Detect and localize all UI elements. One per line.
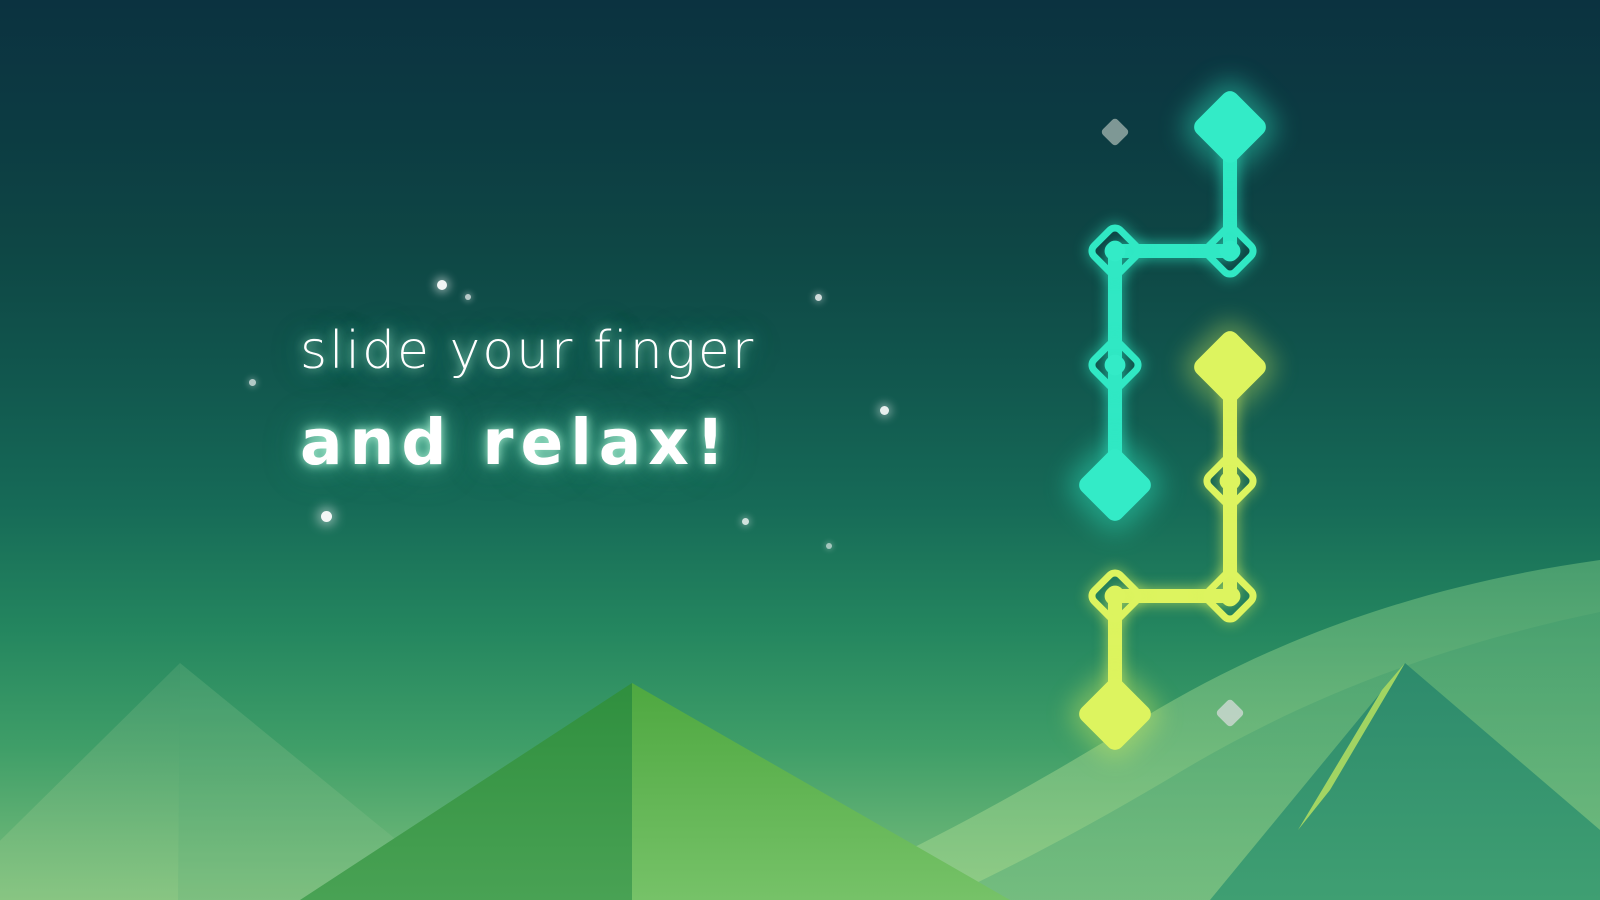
diamond-icon <box>1100 117 1130 147</box>
diamond-icon <box>1190 327 1269 406</box>
diamond-icon <box>1215 698 1245 728</box>
game-promo-banner: slide your finger and relax! <box>0 0 1600 900</box>
diamond-icon <box>1075 445 1154 524</box>
diamond-icon <box>1075 674 1154 753</box>
puzzle-board[interactable] <box>0 0 1600 900</box>
diamond-icon <box>1190 87 1269 166</box>
